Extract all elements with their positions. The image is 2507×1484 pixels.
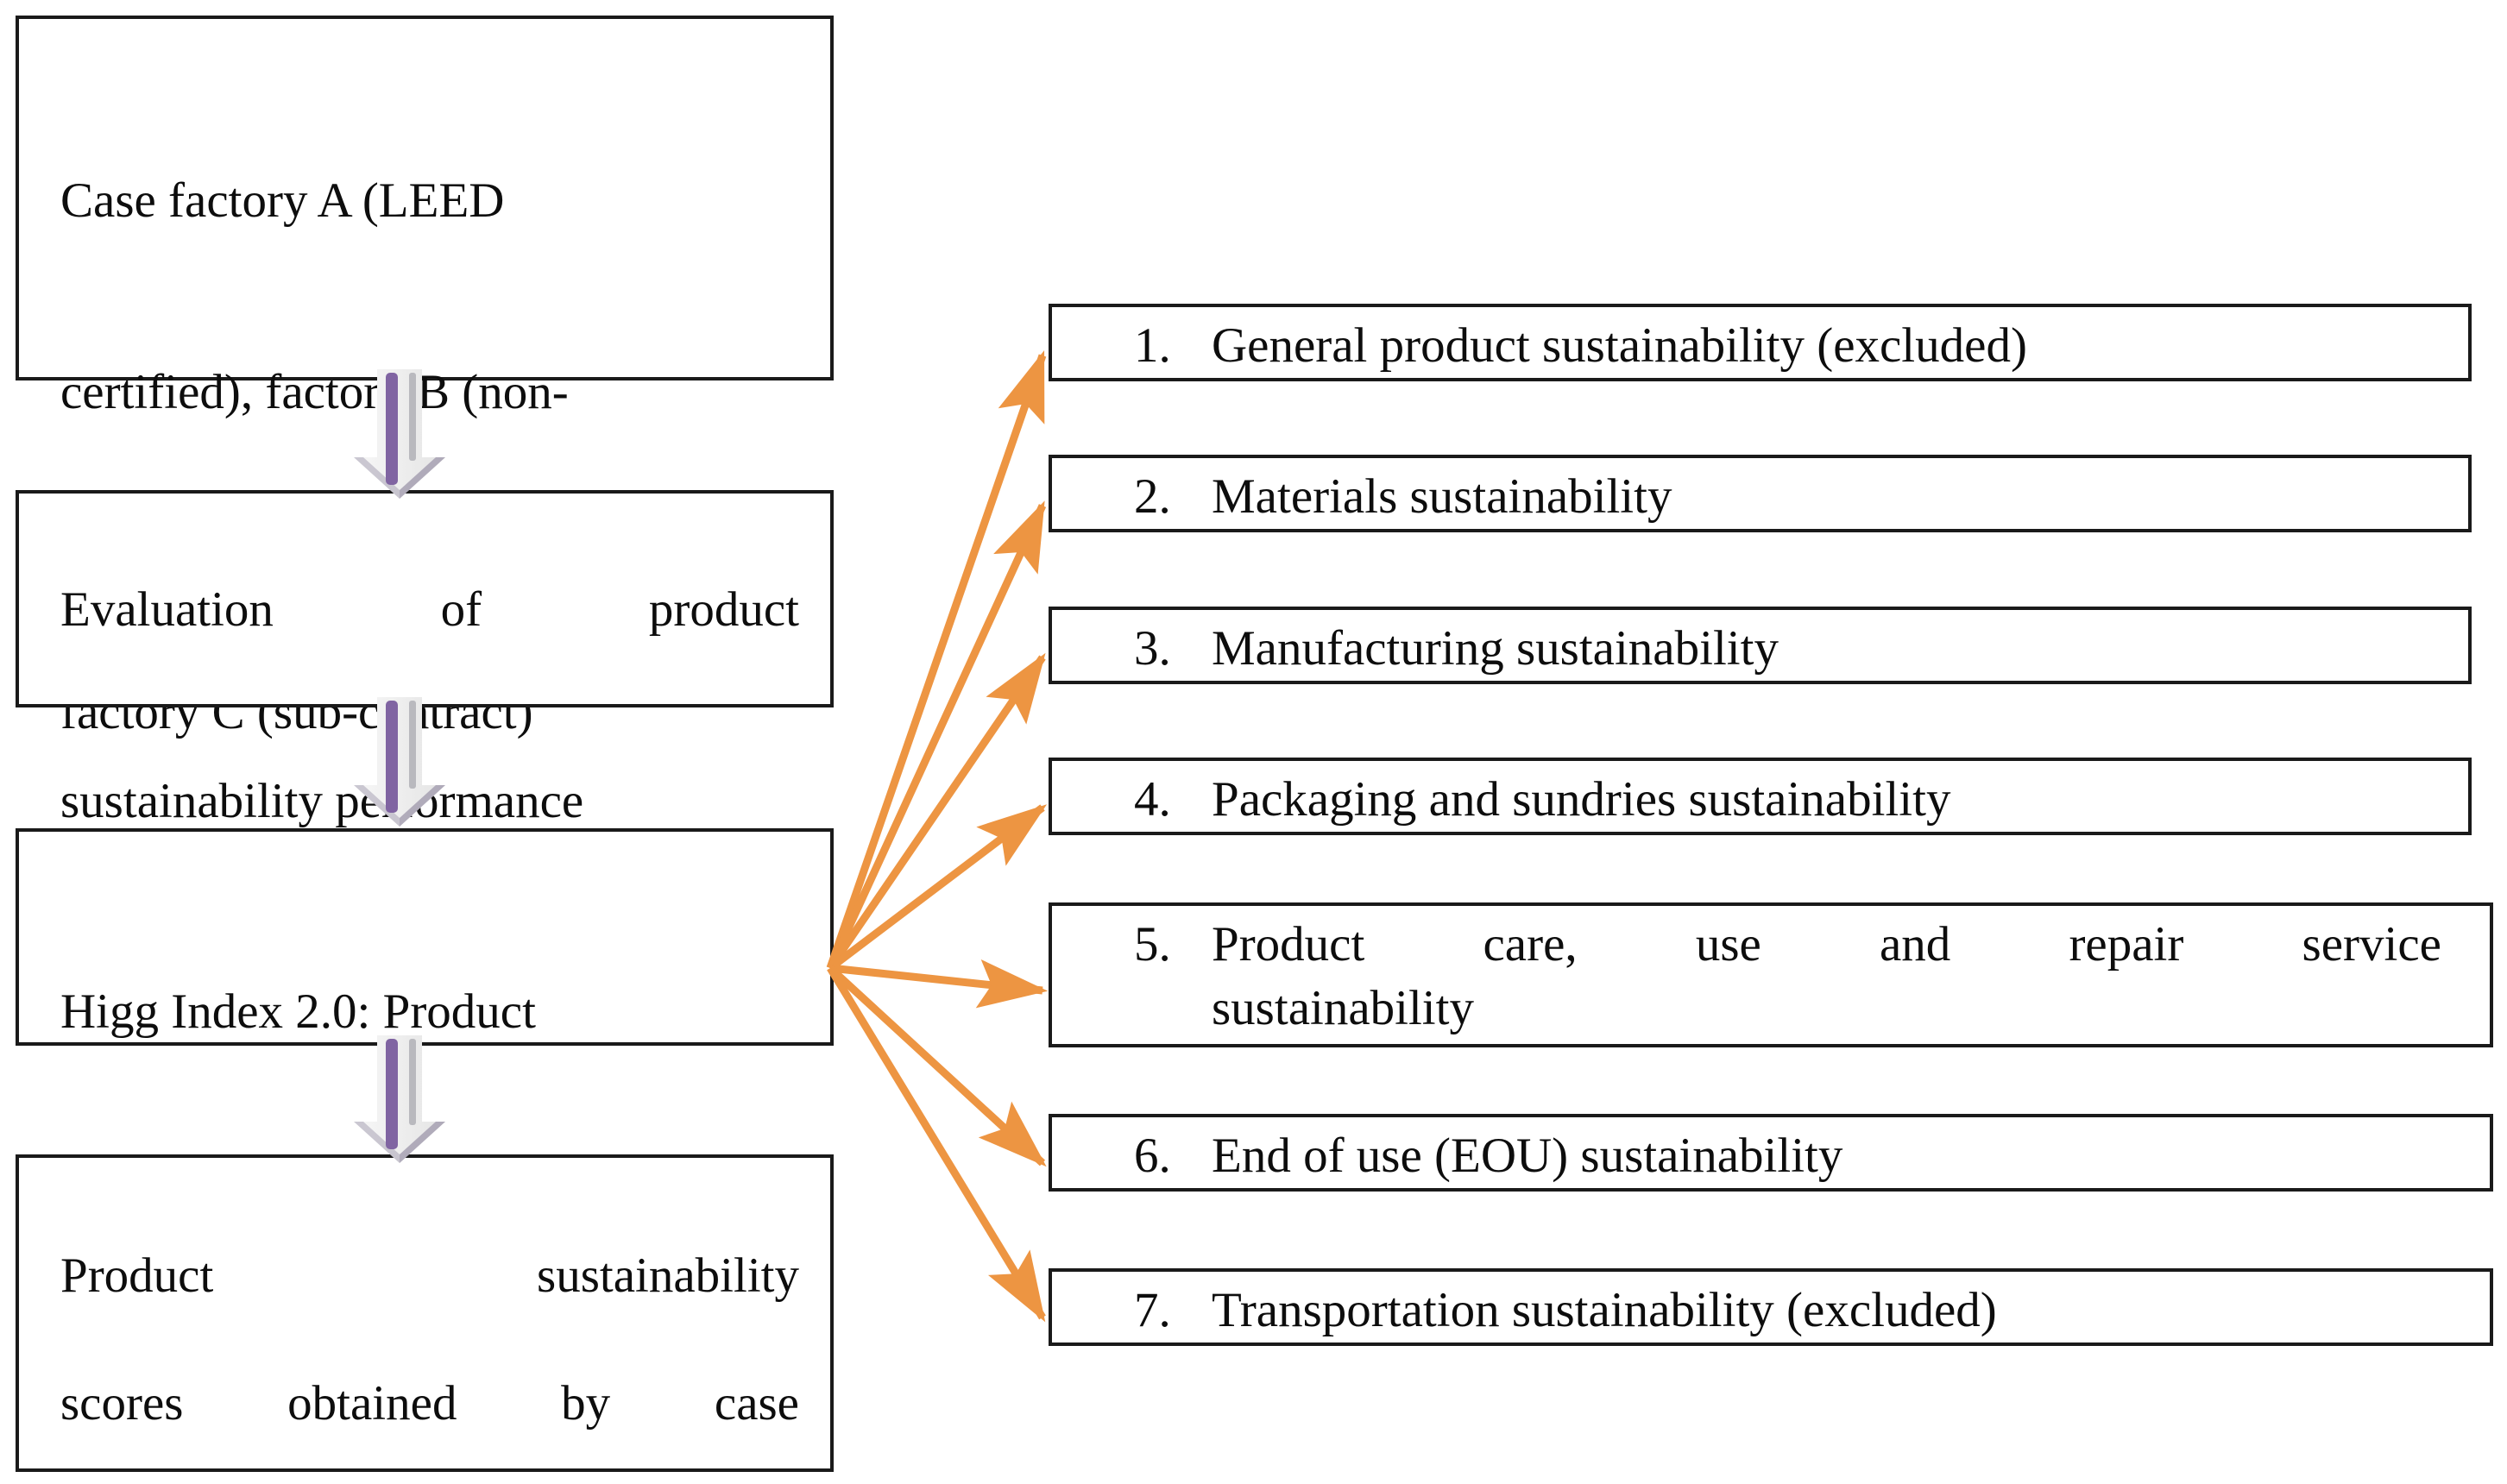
fan-arrow-to-item-7 xyxy=(830,968,1042,1317)
item-5-word-5: repair xyxy=(2069,913,2183,977)
box-item-3: 3. Manufacturing sustainability xyxy=(1049,607,2472,684)
fan-arrow-to-item-3 xyxy=(830,657,1042,968)
fan-arrow-icon xyxy=(830,355,1042,1317)
scores-line-1b: sustainability xyxy=(537,1244,799,1308)
box-scores: Product sustainability scores obtained b… xyxy=(16,1154,834,1472)
item-5-word-1: Product xyxy=(1212,913,1364,977)
scores-line-1a: Product xyxy=(60,1244,213,1308)
item-5-word-6: service xyxy=(2302,913,2441,977)
item-5-word-3: use xyxy=(1696,913,1761,977)
box-higg-index: Higg Index 2.0: Product Environmental Mo… xyxy=(16,828,834,1046)
item-1-number: 1. xyxy=(1134,314,1171,378)
item-2-number: 2. xyxy=(1134,465,1171,529)
fan-arrow-to-item-6 xyxy=(830,968,1042,1163)
box-item-2: 2. Materials sustainability xyxy=(1049,455,2472,532)
item-5-label: Product care, use and repair service sus… xyxy=(1212,913,2441,1041)
item-7-label: Transportation sustainability (excluded) xyxy=(1212,1279,2420,1343)
item-5-line-2: sustainability xyxy=(1212,981,1474,1035)
item-4-label: Packaging and sundries sustainability xyxy=(1212,768,2420,832)
diagram-canvas: Case factory A (LEED certified), factory… xyxy=(0,0,2507,1484)
item-6-number: 6. xyxy=(1134,1124,1171,1188)
item-3-number: 3. xyxy=(1134,617,1171,681)
higg-line-1: Higg Index 2.0: Product xyxy=(60,984,536,1039)
box-item-1: 1. General product sustainability (exclu… xyxy=(1049,304,2472,381)
eval-line-1b: of xyxy=(441,578,482,642)
item-5-number: 5. xyxy=(1134,913,1171,977)
item-1-label: General product sustainability (excluded… xyxy=(1212,314,2420,378)
fan-arrow-to-item-1 xyxy=(830,355,1042,968)
case-line-1: Case factory A (LEED xyxy=(60,173,504,228)
fan-arrow-to-item-4 xyxy=(830,808,1042,968)
eval-line-2: sustainability performance xyxy=(60,774,583,828)
scores-line-2b: obtained xyxy=(287,1372,457,1436)
box-item-6: 6. End of use (EOU) sustainability xyxy=(1049,1114,2493,1192)
eval-line-1c: product xyxy=(649,578,799,642)
scores-line-2d: case xyxy=(715,1372,799,1436)
fan-arrow-to-item-2 xyxy=(830,506,1042,968)
item-7-number: 7. xyxy=(1134,1279,1171,1343)
item-3-label: Manufacturing sustainability xyxy=(1212,617,2420,681)
item-4-number: 4. xyxy=(1134,768,1171,832)
item-5-word-4: and xyxy=(1880,913,1950,977)
eval-line-1a: Evaluation xyxy=(60,578,274,642)
item-5-word-2: care, xyxy=(1483,913,1578,977)
box-item-4: 4. Packaging and sundries sustainability xyxy=(1049,758,2472,835)
box-scores-text: Product sustainability scores obtained b… xyxy=(60,1180,799,1484)
box-evaluation: Evaluation of product sustainability per… xyxy=(16,490,834,707)
box-item-7: 7. Transportation sustainability (exclud… xyxy=(1049,1268,2493,1346)
scores-line-2a: scores xyxy=(60,1372,183,1436)
case-line-2: certified), factory B (non- xyxy=(60,365,569,419)
item-6-label: End of use (EOU) sustainability xyxy=(1212,1124,2420,1188)
box-case-factories: Case factory A (LEED certified), factory… xyxy=(16,16,834,380)
scores-line-2c: by xyxy=(561,1372,610,1436)
fan-arrow-to-item-5 xyxy=(830,968,1042,990)
box-item-5: 5. Product care, use and repair service … xyxy=(1049,902,2493,1047)
item-2-label: Materials sustainability xyxy=(1212,465,2420,529)
